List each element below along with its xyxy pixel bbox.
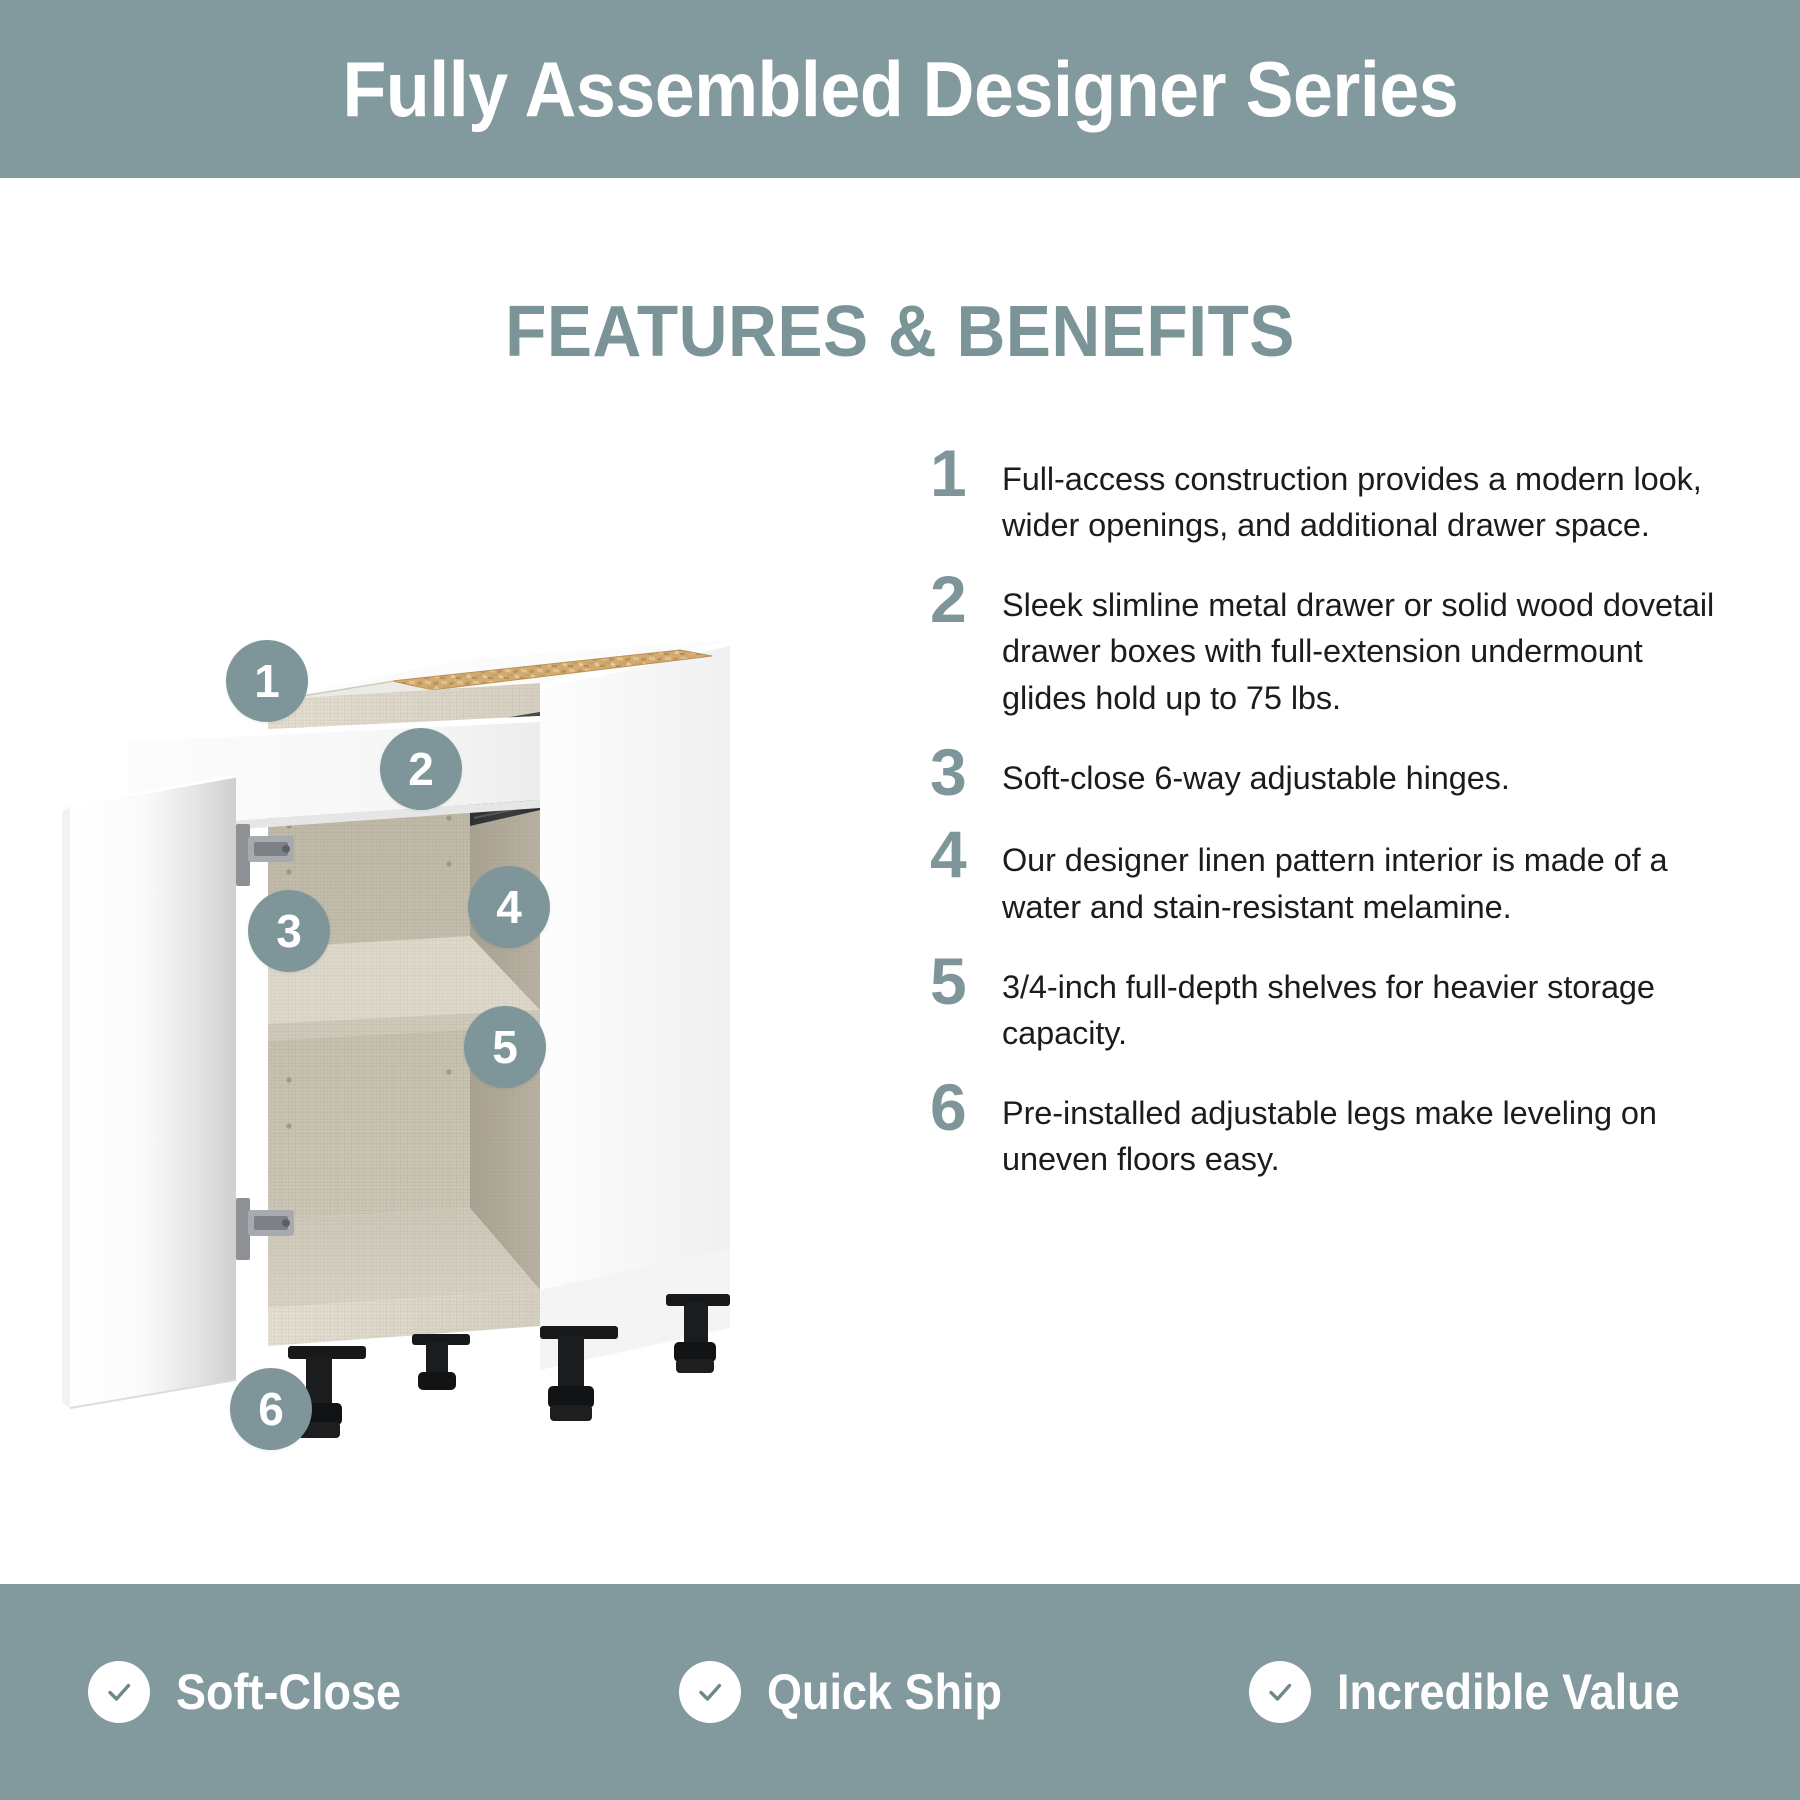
feature-item-5: 5 3/4-inch full-depth shelves for heavie…	[930, 948, 1720, 1056]
feature-text-6: Pre-installed adjustable legs make level…	[1002, 1074, 1720, 1182]
feature-item-1: 1 Full-access construction provides a mo…	[930, 440, 1720, 548]
adjustable-leg-back-left	[412, 1334, 470, 1390]
cabinet-door-edge	[62, 806, 70, 1408]
check-circle-icon	[1249, 1661, 1311, 1723]
callout-badge-5[interactable]: 5	[464, 1006, 546, 1088]
main-content: FEATURES & BENEFITS	[0, 178, 1800, 1584]
page-footer: Soft-Close Quick Ship Incredible Value	[0, 1584, 1800, 1800]
feature-item-4: 4 Our designer linen pattern interior is…	[930, 821, 1720, 929]
feature-number-3: 3	[930, 739, 1002, 804]
feature-number-6: 6	[930, 1074, 1002, 1139]
cabinet-diagram	[40, 428, 800, 1498]
page-title: Fully Assembled Designer Series	[342, 50, 1458, 128]
feature-item-3: 3 Soft-close 6-way adjustable hinges.	[930, 739, 1720, 804]
product-illustration: 1 2 3 4 5 6	[40, 428, 800, 1498]
section-title: FEATURES & BENEFITS	[54, 296, 1746, 368]
feature-number-5: 5	[930, 948, 1002, 1013]
callout-badge-1[interactable]: 1	[226, 640, 308, 722]
feature-number-4: 4	[930, 821, 1002, 886]
feature-text-4: Our designer linen pattern interior is m…	[1002, 821, 1720, 929]
page-header: Fully Assembled Designer Series	[0, 0, 1800, 178]
footer-benefit-label-3: Incredible Value	[1337, 1667, 1680, 1717]
callout-badge-3[interactable]: 3	[248, 890, 330, 972]
footer-benefit-incredible-value: Incredible Value	[1229, 1661, 1800, 1723]
footer-benefit-quick-ship: Quick Ship	[639, 1661, 1230, 1723]
feature-text-5: 3/4-inch full-depth shelves for heavier …	[1002, 948, 1720, 1056]
footer-benefit-label-1: Soft-Close	[176, 1667, 401, 1717]
callout-badge-6[interactable]: 6	[230, 1368, 312, 1450]
footer-benefit-soft-close: Soft-Close	[0, 1661, 639, 1723]
check-circle-icon	[88, 1661, 150, 1723]
callout-badge-4[interactable]: 4	[468, 866, 550, 948]
features-list: 1 Full-access construction provides a mo…	[930, 440, 1720, 1200]
feature-number-2: 2	[930, 566, 1002, 631]
feature-text-1: Full-access construction provides a mode…	[1002, 440, 1720, 548]
check-circle-icon	[679, 1661, 741, 1723]
feature-text-2: Sleek slimline metal drawer or solid woo…	[1002, 566, 1720, 720]
footer-benefit-label-2: Quick Ship	[767, 1667, 1002, 1717]
feature-text-3: Soft-close 6-way adjustable hinges.	[1002, 739, 1720, 801]
feature-number-1: 1	[930, 440, 1002, 505]
feature-item-2: 2 Sleek slimline metal drawer or solid w…	[930, 566, 1720, 720]
cabinet-door	[70, 776, 236, 1408]
callout-badge-2[interactable]: 2	[380, 728, 462, 810]
feature-item-6: 6 Pre-installed adjustable legs make lev…	[930, 1074, 1720, 1182]
